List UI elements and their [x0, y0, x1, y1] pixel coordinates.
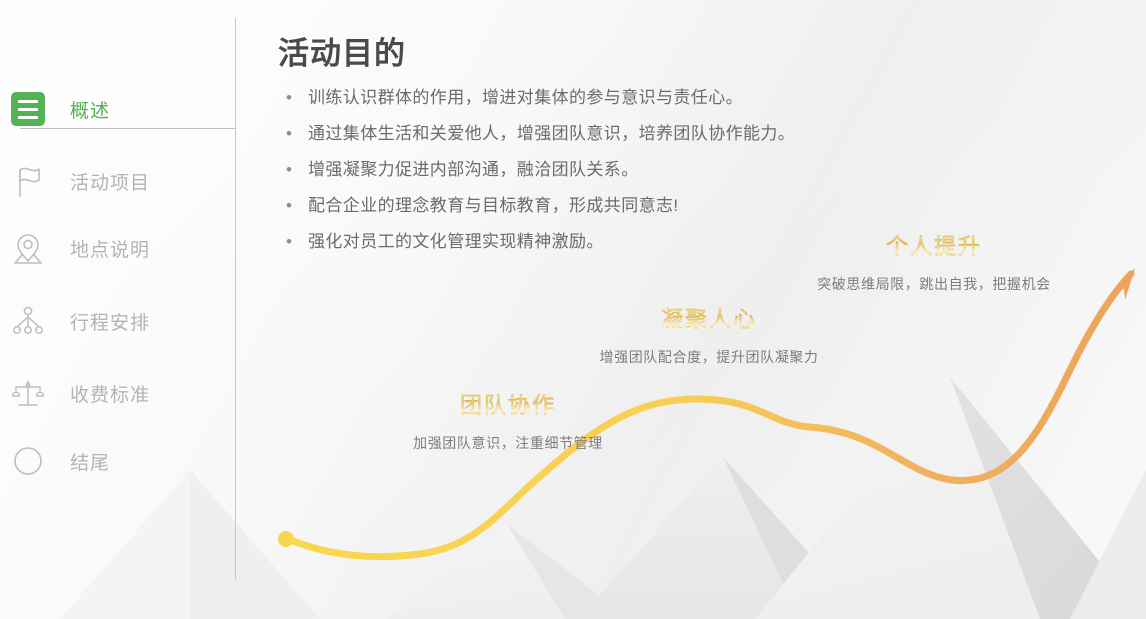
milestone-cohesion: 凝聚人心 增强团队配合度，提升团队凝聚力 [580, 302, 838, 367]
bullet-marker-icon: • [282, 156, 308, 184]
sidebar-item-overview[interactable]: 概述 [0, 86, 236, 132]
milestone-title: 团队协作 [395, 388, 621, 420]
hamburger-menu-icon [8, 89, 48, 129]
slide-canvas: 概述 活动项目 地点说明 [0, 0, 1146, 619]
milestone-teamwork: 团队协作 加强团队意识，注重细节管理 [395, 388, 621, 453]
sidebar-item-label-location: 地点说明 [70, 235, 150, 262]
list-item-text: 通过集体生活和关爱他人，增强团队意识，培养团队协作能力。 [308, 120, 795, 148]
map-pin-icon [8, 228, 48, 268]
list-item: • 配合企业的理念教育与目标教育，形成共同意志! [282, 192, 922, 228]
sidebar-nav: 概述 活动项目 地点说明 [0, 0, 236, 619]
sidebar-item-activities[interactable]: 活动项目 [0, 158, 236, 204]
sidebar-item-label-itinerary: 行程安排 [70, 308, 150, 335]
sidebar-item-label-activities: 活动项目 [70, 168, 150, 195]
sidebar-item-pricing[interactable]: 收费标准 [0, 370, 236, 416]
milestone-personal-growth: 个人提升 突破思维局限，跳出自我，把握机会 [800, 229, 1068, 294]
sidebar-item-itinerary[interactable]: 行程安排 [0, 298, 236, 344]
list-item-text: 配合企业的理念教育与目标教育，形成共同意志! [308, 192, 679, 220]
bullet-marker-icon: • [282, 228, 308, 256]
milestone-subtitle: 加强团队意识，注重细节管理 [395, 433, 621, 453]
list-item-text: 强化对员工的文化管理实现精神激励。 [308, 228, 604, 256]
list-item: • 通过集体生活和关爱他人，增强团队意识，培养团队协作能力。 [282, 120, 922, 156]
list-item: • 增强凝聚力促进内部沟通，融洽团队关系。 [282, 156, 922, 192]
bullet-marker-icon: • [282, 120, 308, 148]
page-title: 活动目的 [278, 28, 406, 73]
list-item: • 训练认识群体的作用，增进对集体的参与意识与责任心。 [282, 84, 922, 120]
milestone-subtitle: 增强团队配合度，提升团队凝聚力 [580, 347, 838, 367]
circle-icon [8, 441, 48, 481]
balance-scales-icon [8, 373, 48, 413]
sidebar-item-location[interactable]: 地点说明 [0, 225, 236, 271]
flag-icon [8, 161, 48, 201]
sidebar-item-label-pricing: 收费标准 [70, 380, 150, 407]
list-item-text: 训练认识群体的作用，增进对集体的参与意识与责任心。 [308, 84, 743, 112]
bullet-marker-icon: • [282, 84, 308, 112]
growth-curve-arrowhead [1116, 268, 1135, 300]
milestone-title: 凝聚人心 [580, 302, 838, 334]
list-item-text: 增强凝聚力促进内部沟通，融洽团队关系。 [308, 156, 639, 184]
org-tree-icon [8, 301, 48, 341]
sidebar-item-ending[interactable]: 结尾 [0, 438, 236, 484]
growth-curve-start-dot [278, 531, 294, 547]
sidebar-item-label-ending: 结尾 [70, 448, 110, 475]
bullet-marker-icon: • [282, 192, 308, 220]
milestone-title: 个人提升 [800, 229, 1068, 261]
milestone-subtitle: 突破思维局限，跳出自我，把握机会 [800, 274, 1068, 294]
sidebar-item-label-overview: 概述 [70, 96, 110, 123]
